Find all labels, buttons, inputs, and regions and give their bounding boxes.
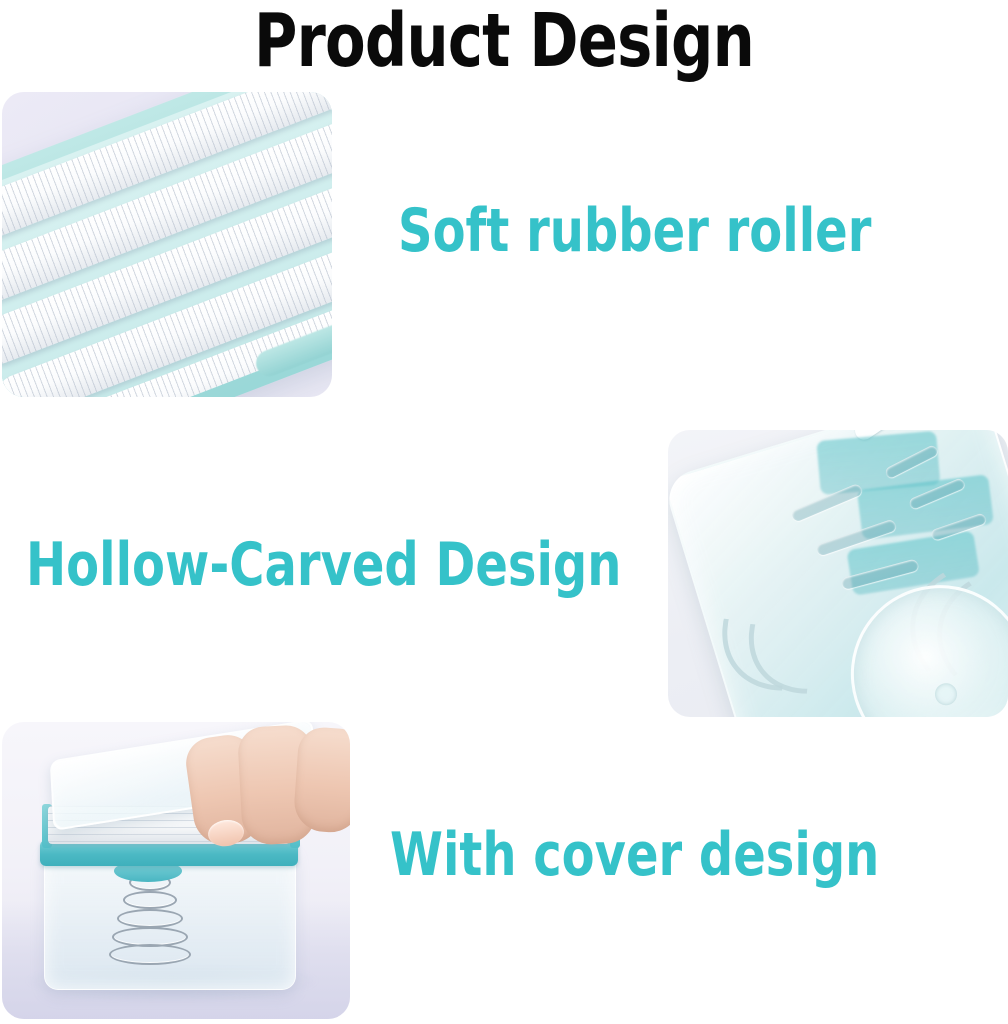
transparent-lid xyxy=(668,430,1008,717)
spring-coil xyxy=(109,944,191,965)
photo-cover-lift xyxy=(2,722,350,1019)
metal-spring xyxy=(110,874,186,960)
hand xyxy=(188,726,350,850)
infographic-page: Product Design Soft rubber roller Hollow… xyxy=(0,0,1008,1024)
page-title: Product Design xyxy=(101,0,907,84)
photo-rollers-closeup xyxy=(2,92,332,397)
spring-coil xyxy=(123,891,177,909)
caption-soft-rubber-roller: Soft rubber roller xyxy=(398,196,871,266)
spring-coil xyxy=(117,909,183,928)
finger xyxy=(292,726,350,834)
photo-hollow-carved-lid xyxy=(668,430,1008,717)
caption-with-cover-design: With cover design xyxy=(390,820,879,890)
caption-hollow-carved-design: Hollow-Carved Design xyxy=(26,530,621,600)
fingernail xyxy=(206,818,245,849)
